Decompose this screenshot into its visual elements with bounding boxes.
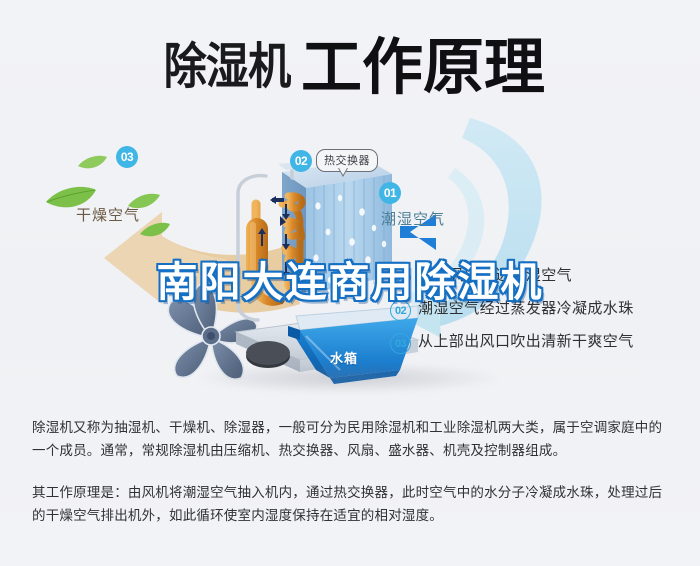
badge-heat-exchanger: 02	[290, 150, 312, 172]
description-block: 除湿机又称为抽湿机、干燥机、除湿器，一般可分为民用除湿机和工业除湿机两大类，属于…	[32, 416, 670, 527]
paragraph-definition: 除湿机又称为抽湿机、干燥机、除湿器，一般可分为民用除湿机和工业除湿机两大类，属于…	[32, 416, 670, 462]
paragraph-principle: 其工作原理是：由风机将潮湿空气抽入机内，通过热交换器，此时空气中的水分子冷凝成水…	[32, 481, 670, 527]
infographic-page: 除湿机 工作原理	[0, 0, 700, 566]
legend-item: 03 从上部出风口吹出清新干爽空气	[390, 332, 690, 354]
page-title: 除湿机 工作原理	[0, 26, 700, 108]
page-title-part2: 工作原理	[301, 37, 545, 98]
watermark-text: 南阳大连商用除湿机	[0, 262, 700, 303]
badge-dry-air: 03	[116, 146, 138, 168]
legend-text-03: 从上部出风口吹出清新干爽空气	[418, 332, 634, 352]
page-title-part1: 除湿机	[164, 43, 291, 92]
legend-badge-03: 03	[390, 333, 411, 354]
label-dry-air: 干燥空气	[76, 204, 140, 225]
machine-shadow	[198, 363, 498, 393]
label-water-tank: 水箱	[330, 348, 358, 367]
label-humid-air: 潮湿空气	[381, 208, 445, 229]
badge-humid-air: 01	[379, 182, 401, 204]
callout-tail-icon	[338, 168, 348, 177]
